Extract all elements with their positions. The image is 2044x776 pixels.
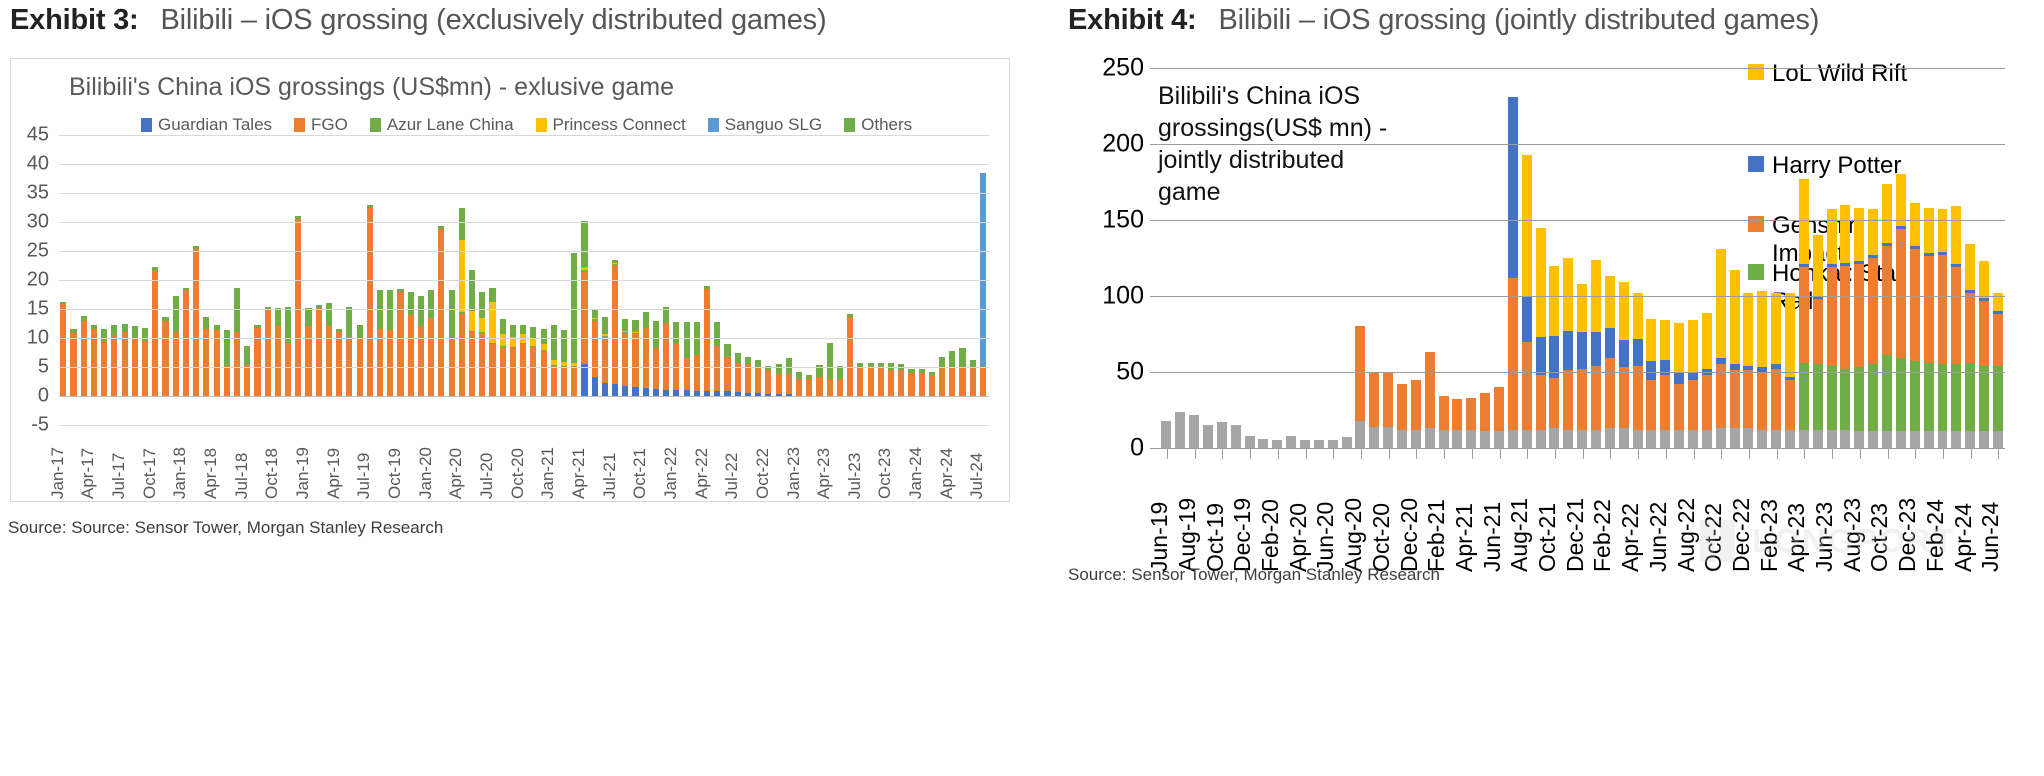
bar-segment bbox=[1355, 326, 1365, 420]
legend-item-fgo: FGO bbox=[294, 115, 348, 135]
bar-stack bbox=[1854, 68, 1864, 448]
bar-segment bbox=[1965, 290, 1975, 293]
bar-stack bbox=[1300, 68, 1310, 448]
x-tick-label: Jan-18 bbox=[170, 447, 190, 499]
exhibit-3-chart-panel: Bilibili's China iOS grossings (US$mn) -… bbox=[10, 58, 1010, 502]
bar-segment bbox=[776, 374, 782, 394]
bar-stack bbox=[1563, 68, 1573, 448]
bar-segment bbox=[908, 373, 914, 396]
bar-segment bbox=[1868, 255, 1878, 258]
bar-segment bbox=[305, 325, 311, 326]
bar-stack bbox=[1951, 68, 1961, 448]
bar-stack bbox=[1272, 68, 1282, 448]
bar-stack bbox=[1827, 68, 1837, 448]
bar-segment bbox=[551, 360, 557, 365]
bar-segment bbox=[868, 363, 874, 366]
bar-segment bbox=[1840, 430, 1850, 448]
bar-segment bbox=[898, 370, 904, 396]
bar-segment bbox=[1605, 358, 1615, 428]
x-tick-label: Oct-21 bbox=[1534, 503, 1561, 572]
legend-swatch-fgo bbox=[294, 118, 305, 132]
bar-segment bbox=[602, 336, 608, 337]
bar-segment bbox=[152, 267, 158, 270]
exhibit-3-number: Exhibit 3: bbox=[10, 4, 139, 37]
bar-column bbox=[1631, 68, 1645, 448]
gridline bbox=[59, 309, 989, 310]
bar-segment bbox=[500, 346, 506, 347]
bar-stack bbox=[1397, 68, 1407, 448]
x-tick-mark bbox=[1604, 448, 1618, 459]
bar-column bbox=[1326, 68, 1340, 448]
bar-segment bbox=[1522, 430, 1532, 448]
bar-segment bbox=[1203, 425, 1213, 448]
bar-stack bbox=[1439, 68, 1449, 448]
x-tick-mark bbox=[1770, 448, 1784, 459]
bar-segment bbox=[745, 357, 751, 363]
bar-segment bbox=[1563, 370, 1573, 429]
legend-item-princess-connect: Princess Connect bbox=[536, 115, 686, 135]
bar-segment bbox=[244, 364, 250, 365]
bar-segment bbox=[1466, 430, 1476, 448]
bar-segment bbox=[1300, 440, 1310, 448]
bar-segment bbox=[244, 346, 250, 363]
legend-item-sanguo-slg: Sanguo SLG bbox=[708, 115, 822, 135]
bar-segment bbox=[1785, 293, 1795, 377]
x-tick-label: Aug-22 bbox=[1673, 498, 1700, 572]
x-tick-mark bbox=[1299, 448, 1313, 459]
bar-segment bbox=[929, 375, 935, 376]
gridline bbox=[1160, 68, 2005, 69]
page-root: Exhibit 3: Bilibili – iOS grossing (excl… bbox=[0, 0, 2044, 776]
x-tick-mark bbox=[1922, 448, 1936, 459]
bar-segment bbox=[1785, 377, 1795, 380]
bar-segment bbox=[1508, 430, 1518, 448]
bar-segment bbox=[1674, 384, 1684, 430]
bar-segment bbox=[469, 311, 475, 331]
bar-segment bbox=[1563, 430, 1573, 448]
bar-segment bbox=[1411, 380, 1421, 430]
bar-column bbox=[1701, 68, 1715, 448]
x-tick-mark bbox=[1188, 448, 1202, 459]
x-tick-mark bbox=[1534, 448, 1548, 459]
bar-segment bbox=[1563, 331, 1573, 371]
bar-segment bbox=[1189, 415, 1199, 448]
x-tick-label: Apr-17 bbox=[78, 448, 98, 499]
bar-segment bbox=[1743, 428, 1753, 448]
bar-segment bbox=[581, 267, 587, 269]
bar-segment bbox=[602, 334, 608, 336]
bar-column bbox=[1673, 68, 1687, 448]
x-tick-mark bbox=[1202, 448, 1216, 459]
bar-segment bbox=[551, 366, 557, 396]
bar-segment bbox=[602, 317, 608, 334]
bar-segment bbox=[1231, 425, 1241, 448]
bar-segment bbox=[643, 388, 649, 396]
exhibit-4-source: Source: Sensor Tower, Morgan Stanley Res… bbox=[1068, 565, 1440, 585]
longport-watermark: LONGPORT bbox=[1700, 520, 1955, 562]
x-tick-mark bbox=[1243, 448, 1257, 459]
bar-column bbox=[1728, 68, 1742, 448]
bar-segment bbox=[612, 260, 618, 263]
bar-segment bbox=[1730, 364, 1740, 370]
bar-stack bbox=[1910, 68, 1920, 448]
bar-segment bbox=[1951, 267, 1961, 364]
y-tick-label: -5 bbox=[9, 414, 49, 437]
bar-column bbox=[1396, 68, 1410, 448]
bar-segment bbox=[837, 377, 843, 378]
exhibit-3-source: Source: Source: Sensor Tower, Morgan Sta… bbox=[8, 518, 443, 538]
bar-segment bbox=[214, 325, 220, 330]
bar-stack bbox=[1342, 68, 1352, 448]
bar-column bbox=[1312, 68, 1326, 448]
x-tick-mark bbox=[1728, 448, 1742, 459]
x-tick-mark bbox=[1562, 448, 1576, 459]
x-tick-mark bbox=[1409, 448, 1423, 459]
bar-segment bbox=[755, 360, 761, 366]
bar-segment bbox=[459, 312, 465, 313]
bar-column bbox=[1493, 68, 1507, 448]
bar-stack bbox=[1785, 68, 1795, 448]
bar-segment bbox=[326, 325, 332, 326]
y-tick-label: 200 bbox=[1068, 130, 1144, 159]
bar-segment bbox=[316, 308, 322, 396]
bar-segment bbox=[1799, 267, 1809, 363]
bar-stack bbox=[1646, 68, 1656, 448]
bar-segment bbox=[1951, 364, 1961, 431]
x-tick-label: Oct-19 bbox=[385, 448, 405, 499]
x-tick-label: Apr-20 bbox=[1285, 503, 1312, 572]
bar-segment bbox=[970, 367, 976, 396]
bar-segment bbox=[1660, 430, 1670, 448]
bar-segment bbox=[1217, 422, 1227, 448]
bar-segment bbox=[295, 216, 301, 218]
bar-segment bbox=[776, 364, 782, 373]
bar-segment bbox=[397, 290, 403, 291]
bar-segment bbox=[571, 253, 577, 363]
bar-segment bbox=[1882, 246, 1892, 355]
gridline bbox=[59, 338, 989, 339]
bar-segment bbox=[1840, 205, 1850, 263]
bar-segment bbox=[1369, 427, 1379, 448]
bar-column bbox=[1506, 68, 1520, 448]
bar-segment bbox=[1813, 430, 1823, 448]
x-tick-label: Apr-21 bbox=[569, 448, 589, 499]
bar-stack bbox=[1771, 68, 1781, 448]
bar-segment bbox=[1688, 320, 1698, 372]
bar-segment bbox=[1840, 266, 1850, 369]
bar-segment bbox=[479, 318, 485, 333]
bar-segment bbox=[295, 219, 301, 396]
bar-segment bbox=[786, 374, 792, 394]
bar-segment bbox=[1536, 228, 1546, 337]
bar-column bbox=[1354, 68, 1368, 448]
bar-segment bbox=[592, 319, 598, 320]
bar-segment bbox=[244, 365, 250, 396]
x-tick-label: Oct-22 bbox=[753, 448, 773, 499]
x-tick-mark bbox=[1382, 448, 1396, 459]
x-tick-label: Feb-21 bbox=[1423, 499, 1450, 572]
bar-segment bbox=[1716, 249, 1726, 358]
bar-segment bbox=[1716, 358, 1726, 364]
bar-stack bbox=[1231, 68, 1241, 448]
bar-segment bbox=[806, 375, 812, 378]
x-tick-mark bbox=[1701, 448, 1715, 459]
bar-segment bbox=[878, 367, 884, 396]
x-tick-mark bbox=[1160, 448, 1174, 459]
bar-segment bbox=[367, 205, 373, 207]
bar-segment bbox=[1951, 431, 1961, 448]
x-tick-mark bbox=[1673, 448, 1687, 459]
gridline bbox=[59, 193, 989, 194]
longport-logo-icon bbox=[1700, 520, 1740, 562]
bar-segment bbox=[173, 332, 179, 396]
bar-segment bbox=[428, 290, 434, 316]
bar-segment bbox=[469, 332, 475, 396]
bar-segment bbox=[162, 317, 168, 320]
bar-segment bbox=[1743, 370, 1753, 428]
bar-segment bbox=[1924, 363, 1934, 431]
bar-segment bbox=[1910, 249, 1920, 361]
gridline bbox=[1160, 372, 2005, 373]
bar-segment bbox=[561, 367, 567, 396]
bar-segment bbox=[254, 325, 260, 327]
exhibit-4-title: Bilibili – iOS grossing (jointly distrib… bbox=[1219, 4, 1820, 37]
bar-segment bbox=[632, 320, 638, 332]
x-tick-mark bbox=[1257, 448, 1271, 459]
legend-swatch-others bbox=[844, 118, 855, 132]
bar-segment bbox=[336, 329, 342, 331]
x-tick-label: Feb-22 bbox=[1589, 499, 1616, 572]
bar-segment bbox=[724, 355, 730, 356]
bar-segment bbox=[1646, 430, 1656, 448]
bar-segment bbox=[1591, 366, 1601, 430]
bar-segment bbox=[1314, 440, 1324, 448]
bar-segment bbox=[1785, 380, 1795, 430]
bar-segment bbox=[786, 373, 792, 374]
bar-segment bbox=[183, 289, 189, 290]
bar-column bbox=[1714, 68, 1728, 448]
bar-segment bbox=[1868, 258, 1878, 364]
x-tick-label: Jul-21 bbox=[600, 453, 620, 499]
legend-swatch-azur-lane-china bbox=[370, 118, 381, 132]
bar-segment bbox=[765, 369, 771, 370]
legend-swatch-princess-connect bbox=[536, 118, 547, 132]
bar-segment bbox=[142, 341, 148, 396]
bar-stack bbox=[1938, 68, 1948, 448]
bar-column bbox=[1604, 68, 1618, 448]
x-tick-label: Jan-21 bbox=[538, 447, 558, 499]
bar-segment bbox=[336, 331, 342, 332]
bar-segment bbox=[520, 343, 526, 344]
bar-segment bbox=[469, 270, 475, 311]
bar-column bbox=[1437, 68, 1451, 448]
bar-segment bbox=[796, 379, 802, 396]
bar-segment bbox=[438, 226, 444, 228]
y-tick-label: 45 bbox=[9, 124, 49, 147]
x-tick-label: Jan-19 bbox=[293, 447, 313, 499]
bar-segment bbox=[908, 372, 914, 373]
bar-segment bbox=[1355, 421, 1365, 448]
bar-segment bbox=[1397, 430, 1407, 448]
x-tick-mark bbox=[1742, 448, 1756, 459]
bar-segment bbox=[1674, 323, 1684, 372]
x-tick-label: Apr-21 bbox=[1451, 503, 1478, 572]
bar-segment bbox=[714, 345, 720, 346]
x-tick-label: Aug-19 bbox=[1174, 498, 1201, 572]
bar-column bbox=[1188, 68, 1202, 448]
bar-segment bbox=[1272, 440, 1282, 448]
y-tick-label: 10 bbox=[9, 327, 49, 350]
bar-segment bbox=[653, 347, 659, 348]
bar-segment bbox=[776, 373, 782, 374]
x-tick-mark bbox=[1714, 448, 1728, 459]
bar-segment bbox=[1910, 431, 1920, 448]
bar-column bbox=[1687, 68, 1701, 448]
bar-segment bbox=[939, 367, 945, 396]
bar-segment bbox=[1868, 209, 1878, 255]
bar-segment bbox=[1730, 428, 1740, 448]
bar-segment bbox=[908, 369, 914, 372]
bar-segment bbox=[1536, 337, 1546, 375]
bar-segment bbox=[1757, 372, 1767, 430]
bar-segment bbox=[295, 218, 301, 219]
bar-segment bbox=[1896, 431, 1906, 448]
x-tick-mark bbox=[1895, 448, 1909, 459]
x-tick-label: Dec-21 bbox=[1562, 498, 1589, 572]
exhibit-3-title: Bilibili – iOS grossing (exclusively dis… bbox=[161, 4, 827, 37]
bar-segment bbox=[1979, 366, 1989, 431]
exhibit-4-chart-panel: Bilibili's China iOS grossings(US$ mn) -… bbox=[1068, 52, 2028, 552]
bar-segment bbox=[632, 387, 638, 396]
bar-segment bbox=[500, 319, 506, 334]
x-tick-mark bbox=[1756, 448, 1770, 459]
bar-segment bbox=[1757, 291, 1767, 367]
bar-stack bbox=[1466, 68, 1476, 448]
bar-segment bbox=[847, 314, 853, 316]
bar-column bbox=[1229, 68, 1243, 448]
bar-segment bbox=[1605, 428, 1615, 448]
bar-segment bbox=[520, 325, 526, 334]
x-tick-mark bbox=[1631, 448, 1645, 459]
bar-stack bbox=[1757, 68, 1767, 448]
bar-segment bbox=[663, 322, 669, 323]
x-tick-mark bbox=[1992, 448, 2006, 459]
bar-segment bbox=[1577, 332, 1587, 368]
bar-segment bbox=[949, 351, 955, 366]
bar-segment bbox=[1743, 366, 1753, 371]
x-tick-mark bbox=[1423, 448, 1437, 459]
bar-stack bbox=[1674, 68, 1684, 448]
bar-segment bbox=[132, 326, 138, 336]
bar-segment bbox=[1674, 430, 1684, 448]
bar-segment bbox=[70, 333, 76, 396]
x-tick-label: Apr-22 bbox=[692, 448, 712, 499]
bar-segment bbox=[111, 335, 117, 396]
bar-column bbox=[1215, 68, 1229, 448]
x-tick-label: Jan-17 bbox=[48, 447, 68, 499]
bar-segment bbox=[581, 221, 587, 267]
x-tick-mark bbox=[1520, 448, 1534, 459]
bar-segment bbox=[316, 305, 322, 307]
bar-segment bbox=[162, 319, 168, 320]
x-tick-label: Oct-17 bbox=[140, 448, 160, 499]
bar-segment bbox=[1771, 364, 1781, 369]
x-tick-label: Jan-20 bbox=[416, 447, 436, 499]
bar-segment bbox=[1646, 319, 1656, 362]
bar-segment bbox=[1771, 369, 1781, 430]
bar-segment bbox=[622, 319, 628, 331]
bar-segment bbox=[581, 364, 587, 396]
x-tick-mark bbox=[1853, 448, 1867, 459]
bar-segment bbox=[1619, 367, 1629, 428]
bar-segment bbox=[285, 341, 291, 342]
x-tick-label: Oct-19 bbox=[1202, 503, 1229, 572]
bar-segment bbox=[234, 331, 240, 332]
bar-segment bbox=[704, 286, 710, 288]
bar-segment bbox=[1827, 366, 1837, 430]
gridline bbox=[59, 367, 989, 368]
bar-segment bbox=[70, 329, 76, 331]
x-tick-mark bbox=[1215, 448, 1229, 459]
x-tick-mark bbox=[1576, 448, 1590, 459]
gridline bbox=[59, 251, 989, 252]
bar-segment bbox=[1619, 282, 1629, 340]
bar-segment bbox=[1480, 393, 1490, 431]
bar-segment bbox=[1397, 384, 1407, 430]
bar-segment bbox=[1605, 276, 1615, 328]
bar-segment bbox=[561, 362, 567, 365]
bar-stack bbox=[1799, 68, 1809, 448]
left-chart-plot-area bbox=[59, 135, 989, 425]
bar-stack bbox=[1161, 68, 1171, 448]
bar-column bbox=[1853, 68, 1867, 448]
bar-segment bbox=[919, 373, 925, 396]
bar-segment bbox=[1854, 431, 1864, 448]
bar-segment bbox=[479, 333, 485, 396]
bar-segment bbox=[868, 367, 874, 396]
bar-column bbox=[1520, 68, 1534, 448]
x-tick-label: Oct-21 bbox=[630, 448, 650, 499]
bar-segment bbox=[1799, 264, 1809, 267]
bar-segment bbox=[1938, 209, 1948, 252]
bar-segment bbox=[367, 207, 373, 208]
y-tick-mark bbox=[1150, 448, 1160, 449]
x-tick-mark bbox=[1798, 448, 1812, 459]
bar-segment bbox=[183, 290, 189, 396]
bar-stack bbox=[1536, 68, 1546, 448]
bar-segment bbox=[1979, 301, 1989, 366]
legend-label-sanguo-slg: Sanguo SLG bbox=[725, 115, 822, 135]
bar-column bbox=[1867, 68, 1881, 448]
bar-segment bbox=[1619, 340, 1629, 367]
bar-segment bbox=[1799, 179, 1809, 264]
bar-column bbox=[1992, 68, 2006, 448]
bar-segment bbox=[714, 346, 720, 391]
bar-column bbox=[1451, 68, 1465, 448]
bar-segment bbox=[418, 325, 424, 326]
bar-stack bbox=[1425, 68, 1435, 448]
bar-stack bbox=[1813, 68, 1823, 448]
bar-segment bbox=[326, 326, 332, 396]
bar-segment bbox=[397, 292, 403, 396]
bar-segment bbox=[1577, 430, 1587, 448]
bar-segment bbox=[1716, 364, 1726, 428]
x-tick-mark bbox=[1548, 448, 1562, 459]
bar-stack bbox=[1411, 68, 1421, 448]
bar-segment bbox=[1827, 267, 1837, 366]
bar-segment bbox=[847, 316, 853, 317]
bar-segment bbox=[1452, 399, 1462, 429]
